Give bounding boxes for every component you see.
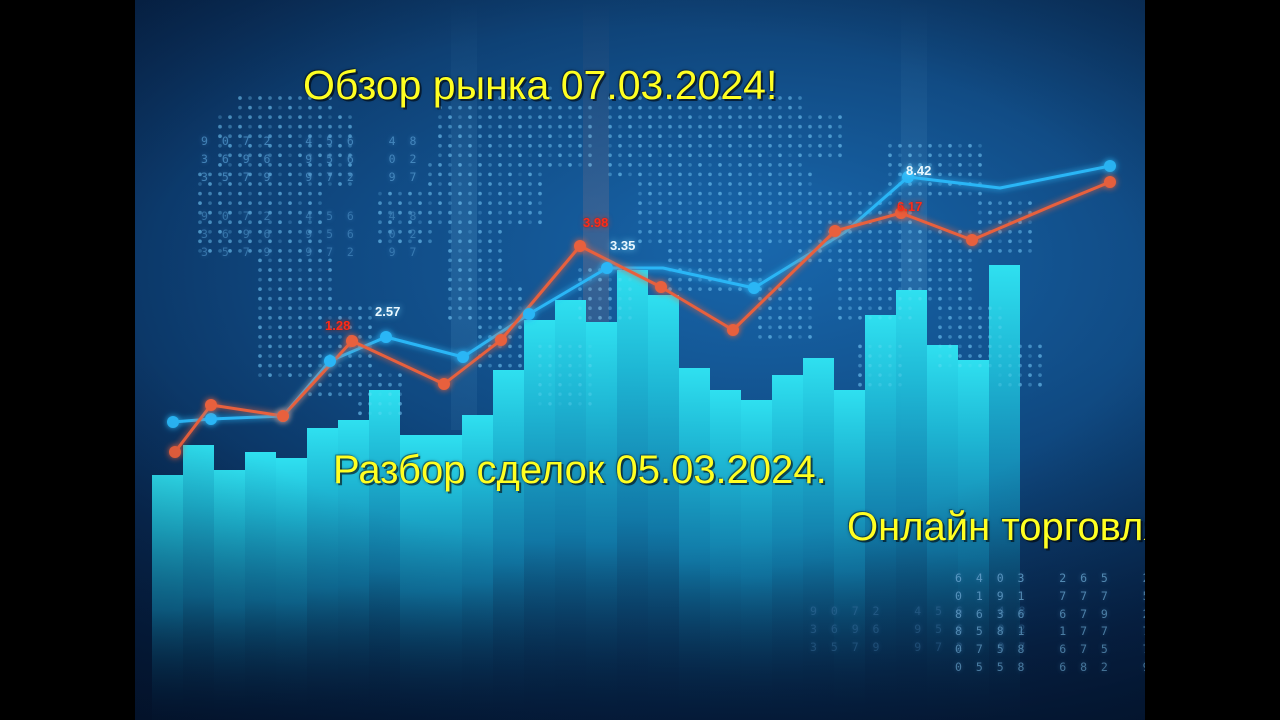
cyan-line-marker [748, 282, 760, 294]
cyan-line-marker [380, 331, 392, 343]
data-point-label: 1.28 [325, 318, 350, 333]
artwork-background: 9 0 7 2 4 5 6 4 8 3 6 9 6 9 5 6 0 2 3 5 … [135, 0, 1145, 720]
red-line-marker [655, 281, 667, 293]
headline-online-trading: Онлайн торговля! [847, 505, 1145, 550]
cyan-line-marker [324, 355, 336, 367]
red-line-marker [966, 234, 978, 246]
data-point-label: 6.17 [897, 199, 922, 214]
cyan-line-marker [205, 413, 217, 425]
thumbnail-canvas: 9 0 7 2 4 5 6 4 8 3 6 9 6 9 5 6 0 2 3 5 … [0, 0, 1280, 720]
red-line-marker [829, 225, 841, 237]
red-line-marker [205, 399, 217, 411]
red-line-marker [495, 334, 507, 346]
headline-market-review: Обзор рынка 07.03.2024! [303, 62, 777, 109]
red-line-marker [346, 335, 358, 347]
headline-trade-analysis: Разбор сделок 05.03.2024. [333, 448, 827, 493]
data-point-label: 8.42 [906, 163, 931, 178]
red-line-marker [169, 446, 181, 458]
digit-matrix-top-left: 9 0 7 2 4 5 6 4 8 3 6 9 6 9 5 6 0 2 3 5 … [201, 133, 420, 186]
data-point-label: 3.98 [583, 215, 608, 230]
red-line-marker [438, 378, 450, 390]
red-line-marker [727, 324, 739, 336]
cyan-line-marker [457, 351, 469, 363]
digit-matrix-top-left-secondary: 9 0 7 2 4 5 6 4 8 3 6 9 6 9 5 6 0 2 3 5 … [201, 208, 420, 261]
cyan-line-marker [167, 416, 179, 428]
red-line-marker [1104, 176, 1116, 188]
data-point-label: 2.57 [375, 304, 400, 319]
red-line-marker [574, 240, 586, 252]
digit-matrix-bottom-right: 6 4 0 3 2 6 5 2 5 0 1 9 1 7 7 7 5 4 8 6 … [955, 570, 1145, 677]
cyan-line-marker [601, 262, 613, 274]
letterbox-right [1145, 0, 1280, 720]
red-line-marker [277, 410, 289, 422]
letterbox-left [0, 0, 135, 720]
data-point-label: 3.35 [610, 238, 635, 253]
cyan-line-marker [523, 308, 535, 320]
cyan-line-marker [1104, 160, 1116, 172]
